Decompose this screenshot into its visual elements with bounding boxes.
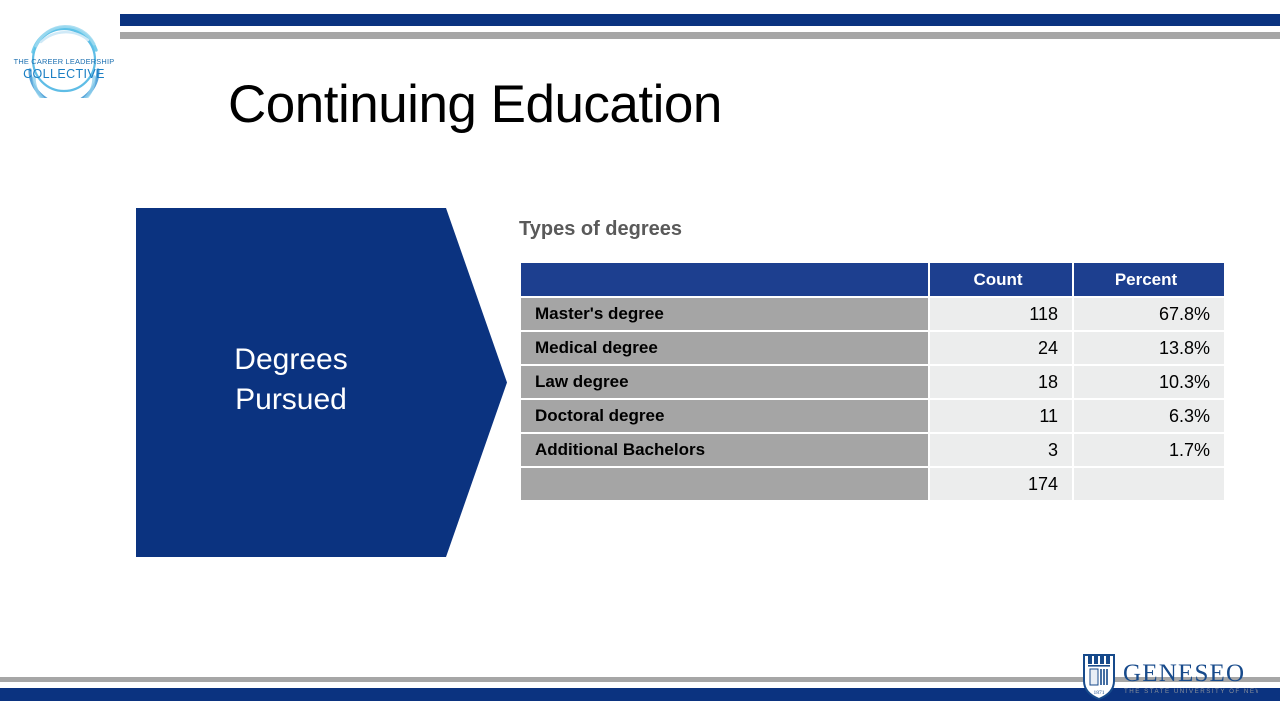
- career-leadership-collective-logo: THE CAREER LEADERSHIP COLLECTIVE: [8, 22, 120, 98]
- table-row: Law degree 18 10.3%: [521, 366, 1224, 398]
- clc-logo-line2-text: COLLECTIVE: [23, 67, 105, 81]
- geneseo-logo: 1871 GENESEO THE STATE UNIVERSITY OF NEW…: [1078, 647, 1258, 703]
- top-blue-accent-bar: [120, 14, 1280, 26]
- table-total-row: 174: [521, 468, 1224, 500]
- degrees-table: Count Percent Master's degree 118 67.8% …: [519, 261, 1226, 502]
- table-caption: Types of degrees: [519, 218, 682, 241]
- cell-percent: 6.3%: [1074, 400, 1224, 432]
- cell-total-count: 174: [930, 468, 1072, 500]
- cell-total-label: [521, 468, 928, 500]
- column-header-degree: [521, 263, 928, 296]
- cell-total-percent: [1074, 468, 1224, 500]
- clc-logo-line1-text: THE CAREER LEADERSHIP: [14, 57, 115, 66]
- top-gray-accent-bar: [120, 32, 1280, 39]
- cell-count: 3: [930, 434, 1072, 466]
- cell-count: 118: [930, 298, 1072, 330]
- cell-degree-label: Master's degree: [521, 298, 928, 330]
- degrees-pursued-callout: Degrees Pursued: [136, 208, 507, 557]
- geneseo-tagline-text: THE STATE UNIVERSITY OF NEW YORK: [1124, 688, 1258, 695]
- pentagon-arrow-shape: [136, 208, 507, 557]
- table-row: Additional Bachelors 3 1.7%: [521, 434, 1224, 466]
- cell-percent: 67.8%: [1074, 298, 1224, 330]
- cell-degree-label: Additional Bachelors: [521, 434, 928, 466]
- geneseo-wordmark-text: GENESEO: [1123, 660, 1245, 687]
- cell-percent: 1.7%: [1074, 434, 1224, 466]
- cell-percent: 13.8%: [1074, 332, 1224, 364]
- table-header-row: Count Percent: [521, 263, 1224, 296]
- cell-percent: 10.3%: [1074, 366, 1224, 398]
- column-header-percent: Percent: [1074, 263, 1224, 296]
- geneseo-crest-icon: 1871: [1084, 654, 1114, 699]
- table-row: Medical degree 24 13.8%: [521, 332, 1224, 364]
- table-row: Master's degree 118 67.8%: [521, 298, 1224, 330]
- cell-count: 18: [930, 366, 1072, 398]
- cell-degree-label: Doctoral degree: [521, 400, 928, 432]
- cell-degree-label: Law degree: [521, 366, 928, 398]
- table-row: Doctoral degree 11 6.3%: [521, 400, 1224, 432]
- geneseo-crest-year: 1871: [1094, 690, 1105, 696]
- cell-count: 11: [930, 400, 1072, 432]
- column-header-count: Count: [930, 263, 1072, 296]
- cell-count: 24: [930, 332, 1072, 364]
- cell-degree-label: Medical degree: [521, 332, 928, 364]
- page-title: Continuing Education: [228, 76, 722, 134]
